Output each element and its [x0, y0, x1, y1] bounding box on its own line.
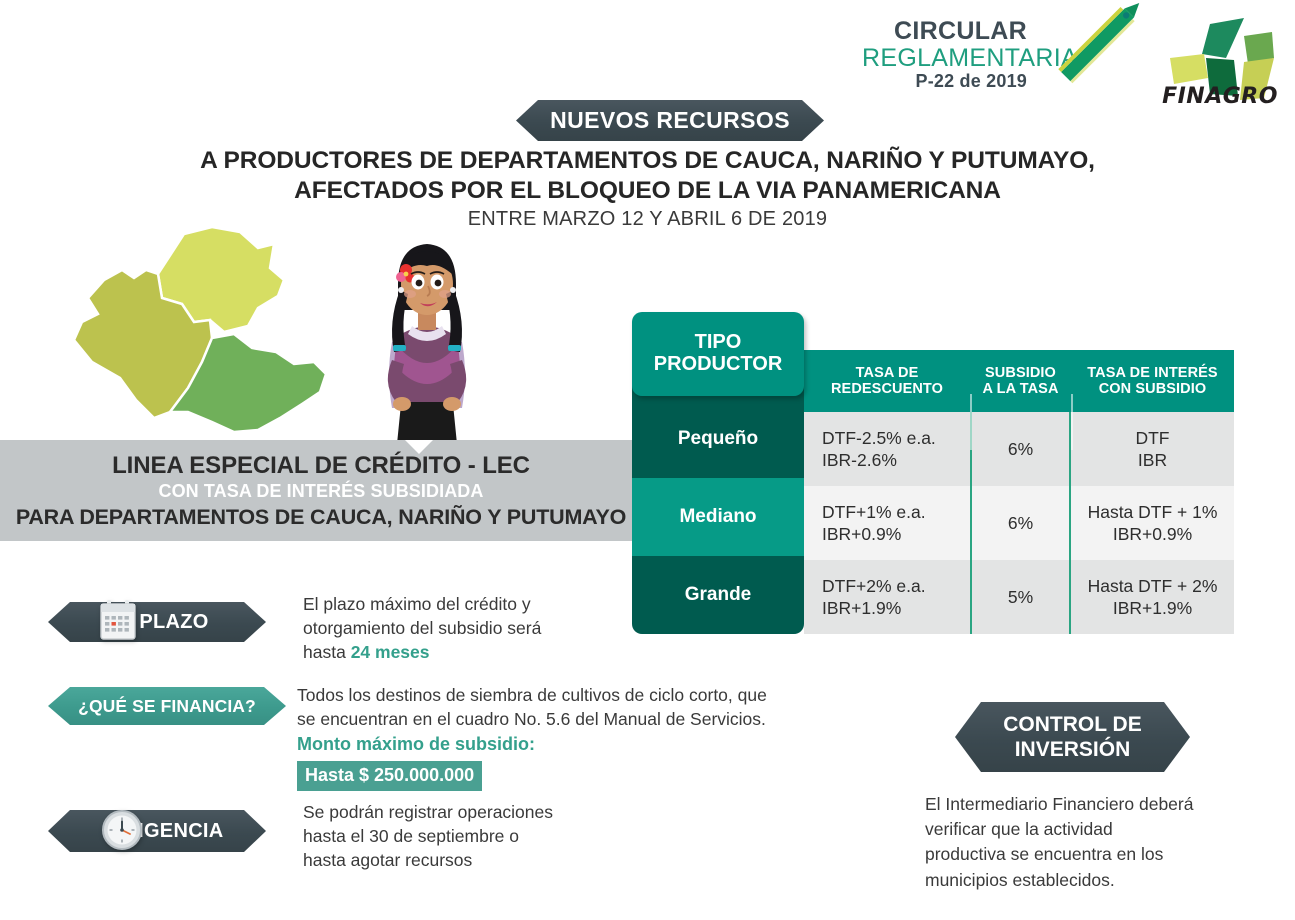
plazo-label: PLAZO	[139, 611, 208, 634]
control-inversion-label-line1: CONTROL DE	[1003, 712, 1141, 737]
finagro-wordmark: FINAGRO	[1160, 84, 1280, 109]
indigenous-woman-illustration-icon	[352, 232, 502, 454]
infographic-root: CIRCULAR REGLAMENTARIA P-22 de 2019 FINA…	[0, 0, 1295, 920]
circular-label-line1: CIRCULAR	[862, 18, 1027, 45]
cell-interes: Hasta DTF + 1% IBR+0.9%	[1071, 486, 1234, 560]
vigencia-ribbon: VIGENCIA	[48, 810, 266, 852]
lec-scope: PARA DEPARTAMENTOS DE CAUCA, NARIÑO Y PU…	[0, 505, 642, 530]
header-divider-2	[1071, 394, 1073, 450]
control-text-line3: productiva se encuentra en los	[925, 842, 1230, 867]
control-text-line1: El Intermediario Financiero deberá	[925, 792, 1230, 817]
table-row-label-grande: Grande	[632, 556, 804, 634]
financia-label: ¿QUÉ SE FINANCIA?	[78, 696, 256, 717]
nuevos-recursos-label: NUEVOS RECURSOS	[550, 107, 790, 134]
lec-subtitle: CON TASA DE INTERÉS SUBSIDIADA	[0, 481, 642, 502]
column-header-interes-line1: TASA DE INTERÉS	[1087, 365, 1217, 381]
plazo-ribbon: PLAZO	[48, 602, 266, 642]
column-header-interes-line2: CON SUBSIDIO	[1087, 381, 1217, 397]
tipo-productor-header: TIPO PRODUCTOR	[632, 312, 804, 396]
nuevos-recursos-ribbon: NUEVOS RECURSOS	[516, 100, 824, 141]
table-row: DTF+2% e.a. IBR+1.9% 5% Hasta DTF + 2% I…	[804, 560, 1234, 634]
plazo-highlight: 24 meses	[351, 642, 430, 662]
cell-subsidio: 6%	[970, 412, 1071, 486]
calendar-icon	[98, 598, 138, 642]
column-header-interes: TASA DE INTERÉS CON SUBSIDIO	[1071, 350, 1234, 412]
financia-description: Todos los destinos de siembra de cultivo…	[297, 683, 857, 791]
column-header-subsidio-line2: A LA TASA	[982, 381, 1058, 397]
plazo-text-prefix: hasta	[303, 642, 351, 662]
lec-title: LINEA ESPECIAL DE CRÉDITO - LEC	[0, 452, 642, 480]
vigencia-text-line2: hasta el 30 de septiembre o	[303, 824, 633, 848]
tipo-productor-header-line2: PRODUCTOR	[654, 354, 783, 376]
cell-redescuento: DTF-2.5% e.a. IBR-2.6%	[804, 412, 970, 486]
plazo-text-line1: El plazo máximo del crédito y	[303, 592, 603, 616]
control-inversion-description: El Intermediario Financiero deberá verif…	[925, 792, 1230, 893]
cell-interes-line1: Hasta DTF + 1%	[1088, 501, 1218, 523]
cell-interes-line2: IBR	[1138, 449, 1167, 471]
tipo-productor-header-line1: TIPO	[654, 332, 783, 354]
clock-icon	[100, 808, 144, 852]
column-header-redescuento: TASA DE REDESCUENTO	[804, 350, 970, 412]
vigencia-description: Se podrán registrar operaciones hasta el…	[303, 800, 633, 872]
cell-subsidio: 6%	[970, 486, 1071, 560]
column-header-redescuento-line1: TASA DE	[831, 365, 943, 381]
cell-redescuento-line1: DTF+2% e.a.	[822, 575, 926, 597]
cell-interes-line1: DTF	[1135, 427, 1169, 449]
plazo-text-line2: otorgamiento del subsidio será	[303, 616, 603, 640]
circular-reference: CIRCULAR REGLAMENTARIA P-22 de 2019	[862, 18, 1027, 91]
header-divider-1	[970, 394, 972, 450]
cell-redescuento-line2: IBR+1.9%	[822, 597, 901, 619]
cell-redescuento-line1: DTF-2.5% e.a.	[822, 427, 936, 449]
page-title: A PRODUCTORES DE DEPARTAMENTOS DE CAUCA,…	[0, 146, 1295, 206]
plazo-description: El plazo máximo del crédito y otorgamien…	[303, 592, 603, 664]
plazo-text-line3: hasta 24 meses	[303, 640, 603, 664]
page-title-line1: A PRODUCTORES DE DEPARTAMENTOS DE CAUCA,…	[0, 146, 1295, 176]
column-header-subsidio: SUBSIDIO A LA TASA	[970, 350, 1071, 412]
cell-subsidio: 5%	[970, 560, 1071, 634]
cell-interes-line1: Hasta DTF + 2%	[1088, 575, 1218, 597]
page-title-line2: AFECTADOS POR EL BLOQUEO DE LA VIA PANAM…	[0, 176, 1295, 206]
control-text-line2: verificar que la actividad	[925, 817, 1230, 842]
table-row: DTF-2.5% e.a. IBR-2.6% 6% DTF IBR	[804, 412, 1234, 486]
cell-interes-line2: IBR+1.9%	[1113, 597, 1192, 619]
column-header-redescuento-line2: REDESCUENTO	[831, 381, 943, 397]
cell-interes: Hasta DTF + 2% IBR+1.9%	[1071, 560, 1234, 634]
cell-redescuento-line1: DTF+1% e.a.	[822, 501, 926, 523]
circular-number: P-22 de 2019	[862, 72, 1027, 91]
cell-redescuento: DTF+1% e.a. IBR+0.9%	[804, 486, 970, 560]
table-row: DTF+1% e.a. IBR+0.9% 6% Hasta DTF + 1% I…	[804, 486, 1234, 560]
pencil-icon	[1040, 0, 1160, 91]
tipo-productor-column: Pequeño Mediano Grande	[632, 374, 804, 634]
table-row-label-mediano: Mediano	[632, 478, 804, 556]
cell-redescuento-line2: IBR-2.6%	[822, 449, 897, 471]
cell-interes-line2: IBR+0.9%	[1113, 523, 1192, 545]
cell-redescuento-line2: IBR+0.9%	[822, 523, 901, 545]
financia-text-line2: se encuentran en el cuadro No. 5.6 del M…	[297, 707, 857, 731]
table-row-label-pequeno: Pequeño	[632, 400, 804, 478]
table-header-row: TASA DE REDESCUENTO SUBSIDIO A LA TASA T…	[804, 350, 1234, 412]
vigencia-text-line1: Se podrán registrar operaciones	[303, 800, 633, 824]
vigencia-text-line3: hasta agotar recursos	[303, 848, 633, 872]
control-inversion-ribbon: CONTROL DE INVERSIÓN	[955, 702, 1190, 772]
table-body: DTF-2.5% e.a. IBR-2.6% 6% DTF IBR DTF+1%…	[804, 412, 1234, 634]
financia-amount: Hasta $ 250.000.000	[297, 761, 482, 791]
cell-redescuento: DTF+2% e.a. IBR+1.9%	[804, 560, 970, 634]
colombia-departments-map-icon	[62, 222, 392, 467]
control-inversion-label-line2: INVERSIÓN	[1003, 737, 1141, 762]
rates-table: Pequeño Mediano Grande TIPO PRODUCTOR TA…	[630, 312, 1234, 634]
cell-interes: DTF IBR	[1071, 412, 1234, 486]
column-header-subsidio-line1: SUBSIDIO	[982, 365, 1058, 381]
financia-amount-wrap: Hasta $ 250.000.000	[297, 761, 857, 791]
control-text-line4: municipios establecidos.	[925, 868, 1230, 893]
circular-label-line2: REGLAMENTARIA	[862, 45, 1027, 72]
financia-ribbon: ¿QUÉ SE FINANCIA?	[48, 687, 286, 725]
financia-text-line1: Todos los destinos de siembra de cultivo…	[297, 683, 857, 707]
financia-monto-label: Monto máximo de subsidio:	[297, 732, 857, 757]
